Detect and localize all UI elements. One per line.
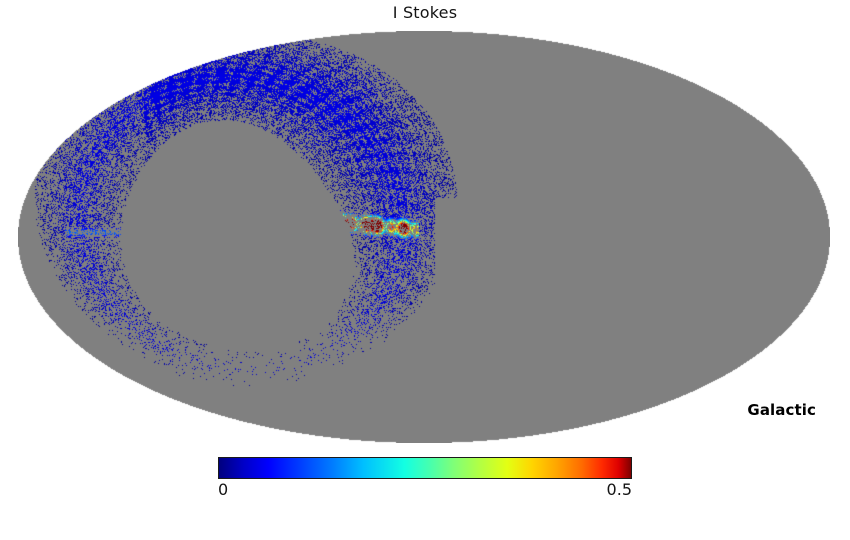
colorbar-gradient <box>218 457 632 479</box>
colorbar-max-label: 0.5 <box>607 480 632 500</box>
page-title: I Stokes <box>0 3 850 23</box>
sky-map-figure: I Stokes Galactic 0 0.5 <box>0 0 850 540</box>
mollweide-projection <box>18 31 830 443</box>
colorbar-group: 0 0.5 <box>218 457 632 502</box>
colorbar-min-label: 0 <box>218 480 228 500</box>
coordinate-system-label: Galactic <box>747 401 816 419</box>
sky-map-canvas <box>18 31 830 443</box>
colorbar-ticks: 0 0.5 <box>218 480 632 502</box>
